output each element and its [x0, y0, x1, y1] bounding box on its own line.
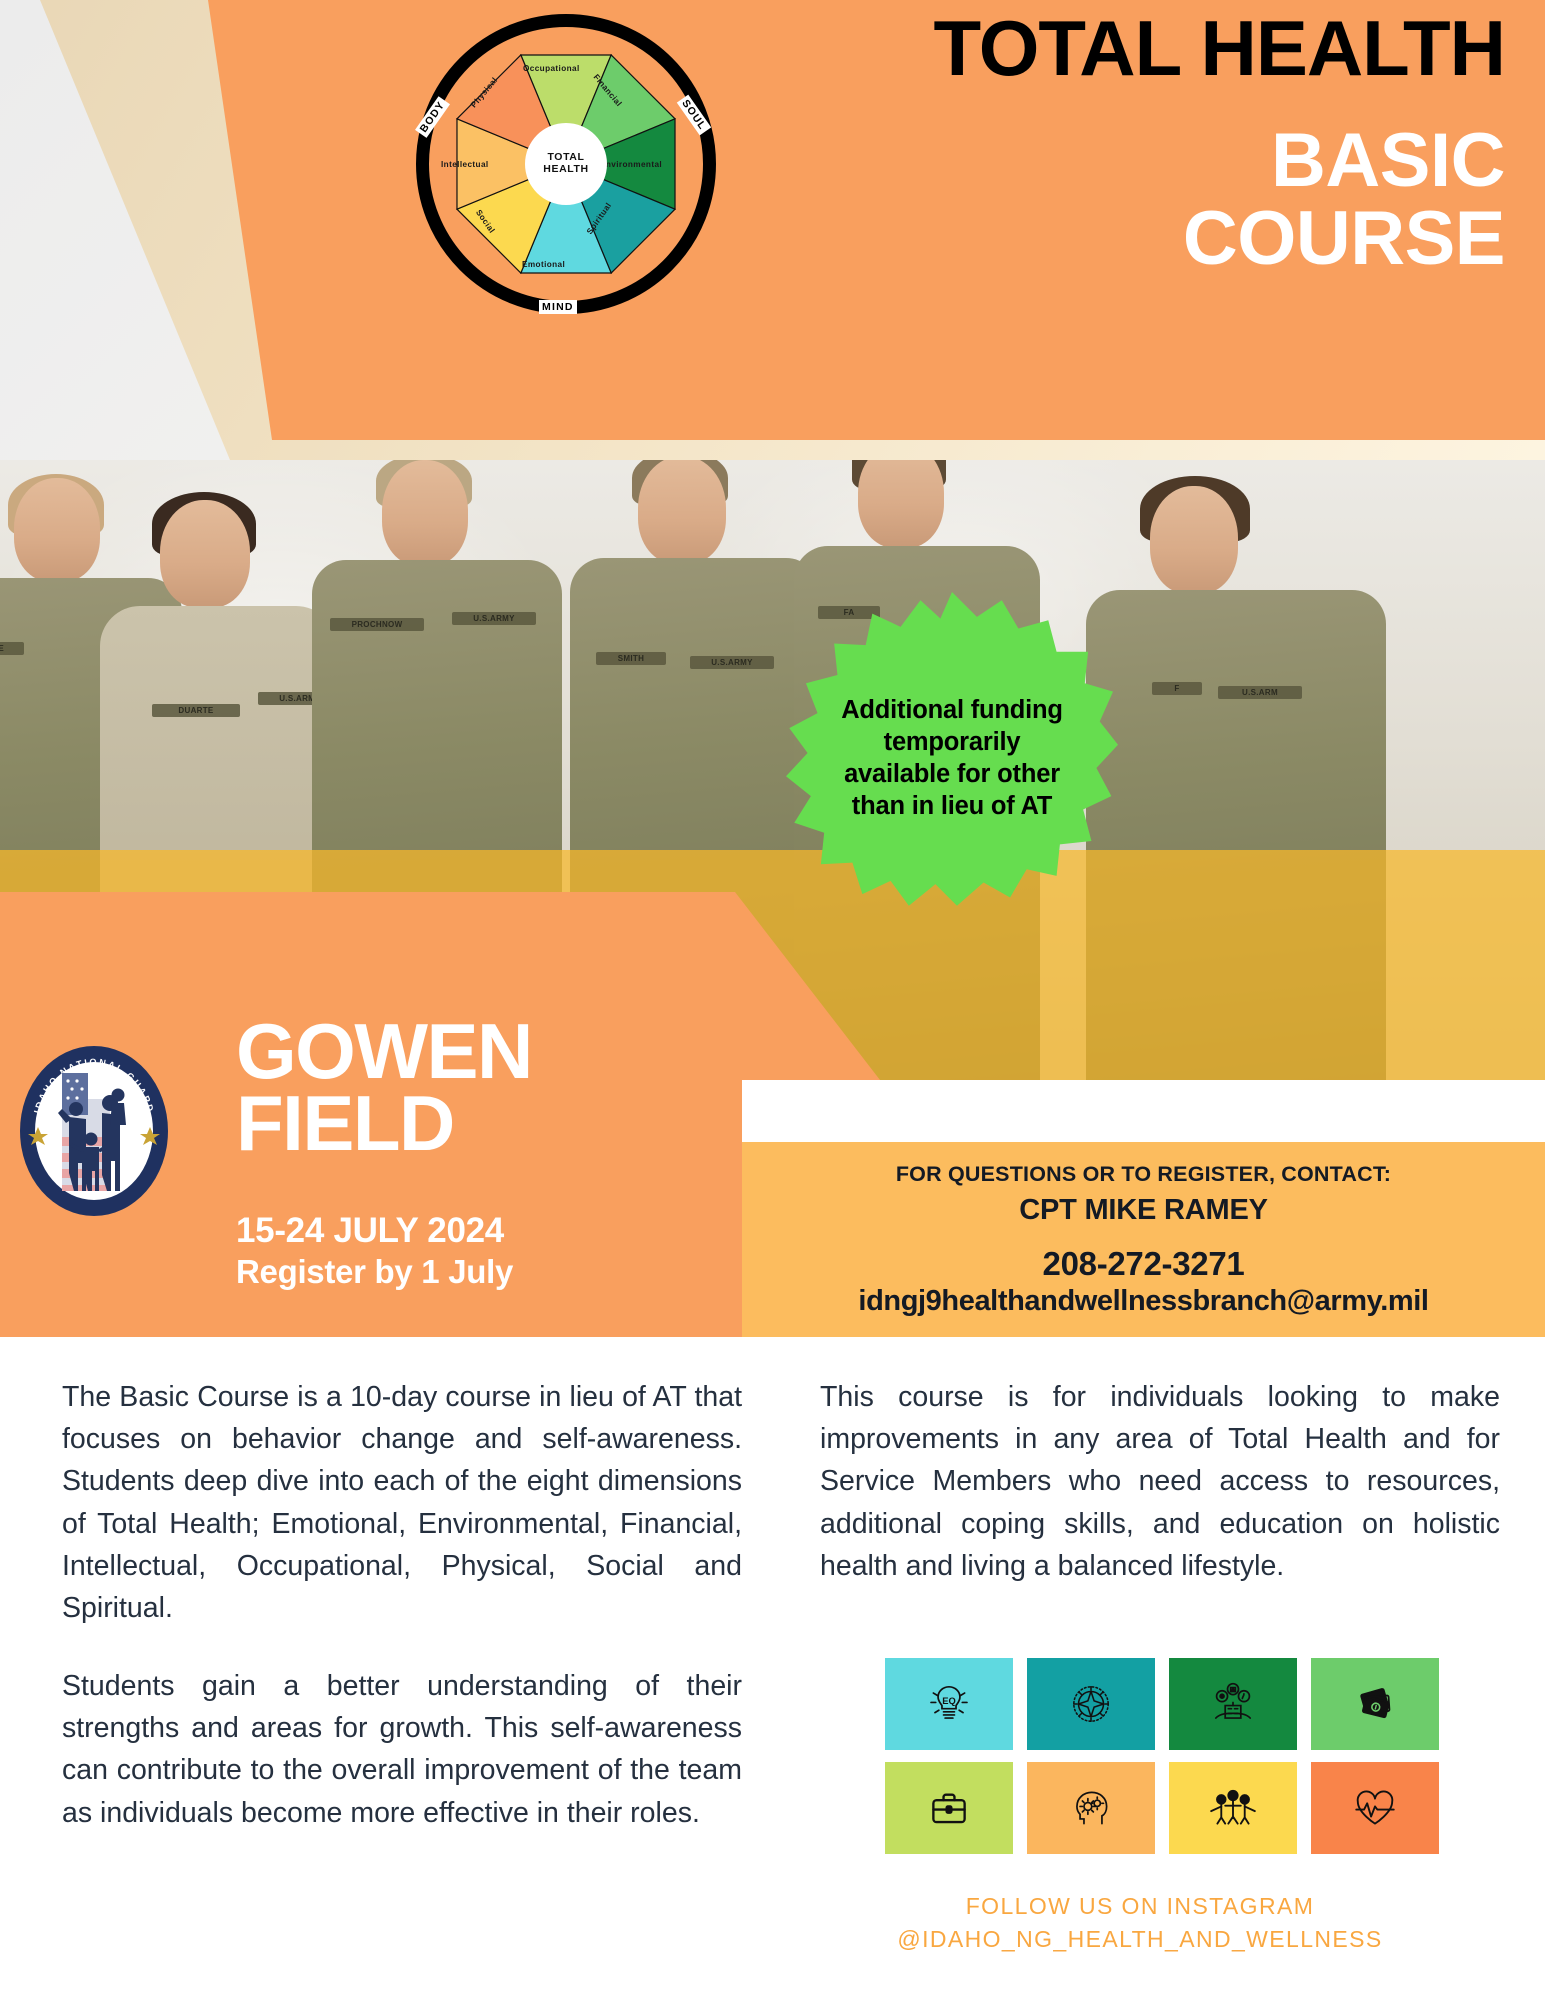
registration-deadline: Register by 1 July: [236, 1253, 513, 1291]
wheel-center-label: TOTAL HEALTH: [525, 152, 607, 175]
description-column-right: This course is for individuals looking t…: [820, 1376, 1500, 1587]
physical-heart-pulse-icon: [1311, 1762, 1439, 1854]
description-paragraph: The Basic Course is a 10-day course in l…: [62, 1376, 742, 1629]
social-people-icon: [1169, 1762, 1297, 1854]
wheel-label-occupational: Occupational: [523, 64, 580, 73]
location-name-line2: FIELD: [236, 1088, 532, 1160]
instagram-footer: FOLLOW US ON INSTAGRAM @IDAHO_NG_HEALTH_…: [820, 1890, 1460, 1957]
page-title-total-health: TOTAL HEALTH: [0, 8, 1545, 90]
funding-starburst-text: Additional funding temporarily available…: [837, 694, 1067, 823]
location-name: GOWEN FIELD: [236, 1016, 532, 1160]
soldier-nametape: SMITH: [596, 652, 666, 665]
wheel-label-intellectual: Intellectual: [441, 160, 489, 169]
spiritual-compass-icon: [1027, 1658, 1155, 1750]
soldier-head: [638, 460, 726, 564]
soldier-head: [160, 500, 250, 608]
instagram-handle: @IDAHO_NG_HEALTH_AND_WELLNESS: [820, 1923, 1460, 1956]
soldier-head: [1150, 486, 1238, 594]
soldier-head: [382, 460, 468, 566]
financial-money-icon: [1311, 1658, 1439, 1750]
occupational-briefcase-icon: [885, 1762, 1013, 1854]
description-paragraph: This course is for individuals looking t…: [820, 1376, 1500, 1587]
soldier-nametape: U.S.ARMY: [690, 656, 774, 669]
soldier-nametape: U.S.ARMY: [452, 612, 536, 625]
contact-email[interactable]: idngj9healthandwellnessbranch@army.mil: [858, 1285, 1428, 1318]
wheel-label-emotional: Emotional: [522, 260, 565, 269]
soldier-nametape: U.S.ARM: [1218, 686, 1302, 699]
contact-phone[interactable]: 208-272-3271: [1043, 1245, 1245, 1283]
location-name-line1: GOWEN: [236, 1016, 532, 1088]
instagram-follow-line: FOLLOW US ON INSTAGRAM: [820, 1890, 1460, 1923]
idaho-national-guard-logo: IDAHO NATIONAL GUARD Service Member & Fa…: [14, 1041, 174, 1221]
dimension-icon-grid: EQ: [885, 1658, 1439, 1854]
title-course-line: COURSE: [1183, 200, 1505, 278]
environmental-community-icon: [1169, 1658, 1297, 1750]
soldier-nametape: F: [1152, 682, 1202, 695]
soldier-nametape: CROWE: [0, 642, 24, 655]
soldier-head: [14, 478, 100, 582]
group-photo: CROWE DUARTE U.S.ARMY PROCHNOW U.S.ARMY …: [0, 460, 1545, 1080]
soldier-nametape: FA: [818, 606, 880, 619]
wheel-center-hub: TOTAL HEALTH: [525, 123, 607, 205]
contact-name: CPT MIKE RAMEY: [1019, 1194, 1268, 1227]
description-paragraph: Students gain a better understanding of …: [62, 1665, 742, 1834]
intellectual-head-gears-icon: [1027, 1762, 1155, 1854]
wheel-cardinal-mind: MIND: [539, 300, 577, 314]
location-panel: IDAHO NATIONAL GUARD Service Member & Fa…: [0, 1013, 742, 1337]
soldier-head: [858, 460, 944, 548]
contact-panel: FOR QUESTIONS OR TO REGISTER, CONTACT: C…: [742, 1142, 1545, 1337]
soldier-nametape: DUARTE: [152, 704, 240, 717]
page-title-basic-course: BASIC COURSE: [1183, 122, 1505, 277]
soldier-nametape: PROCHNOW: [330, 618, 424, 631]
emotional-eq-bulb-icon: EQ: [885, 1658, 1013, 1750]
title-basic-line: BASIC: [1183, 122, 1505, 200]
course-dates: 15-24 JULY 2024: [236, 1211, 504, 1251]
wheel-label-environmental: Environmental: [600, 160, 662, 169]
contact-heading: FOR QUESTIONS OR TO REGISTER, CONTACT:: [896, 1162, 1391, 1187]
description-column-left: The Basic Course is a 10-day course in l…: [62, 1376, 742, 1834]
svg-text:EQ: EQ: [942, 1696, 956, 1706]
